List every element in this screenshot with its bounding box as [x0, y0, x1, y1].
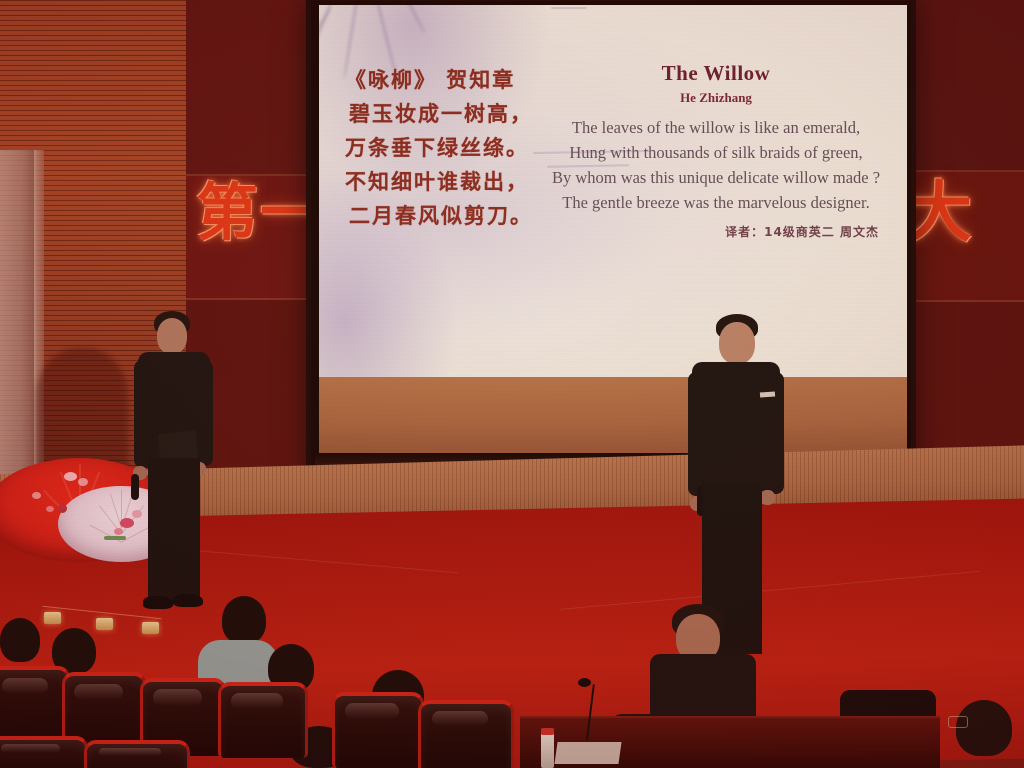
- score-sheet: [554, 742, 621, 764]
- audience-seat: [332, 692, 424, 768]
- screen-lower-band: [319, 377, 907, 453]
- chinese-poem-line: 碧玉妆成一树高，: [345, 97, 533, 131]
- stage-photograph: 第一届 大 《咏柳》 贺知章 碧玉妆成一树高， 万条垂下绿丝绦。 不知细叶谁裁出…: [0, 0, 1024, 768]
- translator-credit: 译者：14级商英二 周文杰: [535, 223, 897, 240]
- chinese-poem-line: 《咏柳》 贺知章: [345, 63, 533, 97]
- audience-head: [222, 596, 266, 644]
- seat-number-tag: [96, 618, 113, 630]
- backdrop-panel: [186, 0, 316, 176]
- english-poem-line: By whom was this unique delicate willow …: [535, 165, 897, 190]
- audience-seat: [84, 740, 190, 768]
- handheld-microphone: [131, 474, 139, 500]
- audience-seat: [0, 736, 88, 768]
- audience-head: [0, 618, 40, 662]
- english-poem-line: The leaves of the willow is like an emer…: [535, 115, 897, 140]
- projection-screen-surface: 《咏柳》 贺知章 碧玉妆成一树高， 万条垂下绿丝绦。 不知细叶谁裁出， 二月春风…: [319, 5, 907, 377]
- banner-text-right: 大: [906, 180, 974, 246]
- english-translation-block: The Willow He Zhizhang The leaves of the…: [535, 61, 897, 240]
- audience-seat: [0, 666, 70, 746]
- water-bottle: [541, 732, 554, 768]
- english-poem-line: Hung with thousands of silk braids of gr…: [535, 140, 897, 165]
- audience-seat: [418, 700, 514, 768]
- seat-number-tag: [44, 612, 61, 624]
- wall-pillar: [0, 150, 36, 510]
- backdrop-panel: [900, 0, 1024, 172]
- slide-author: He Zhizhang: [535, 90, 897, 106]
- parasol-hub: [58, 504, 67, 513]
- slide-title: The Willow: [535, 61, 897, 86]
- panel-seam: [900, 300, 1024, 302]
- chinese-poem-line: 不知细叶谁裁出，: [345, 165, 533, 199]
- chinese-poem-line: 二月春风似剪刀。: [345, 199, 533, 233]
- chinese-poem-line: 万条垂下绿丝绦。: [345, 131, 533, 165]
- chinese-poem-block: 《咏柳》 贺知章 碧玉妆成一树高， 万条垂下绿丝绦。 不知细叶谁裁出， 二月春风…: [345, 63, 533, 233]
- audience-seat: [218, 682, 308, 758]
- projection-screen-frame: 《咏柳》 贺知章 碧玉妆成一树高， 万条垂下绿丝绦。 不知细叶谁裁出， 二月春风…: [306, 0, 916, 474]
- english-poem-line: The gentle breeze was the marvelous desi…: [535, 190, 897, 215]
- pocket-square: [760, 391, 775, 397]
- seat-number-tag: [142, 622, 159, 634]
- eyeglasses-icon: [948, 716, 968, 728]
- water-bottle-cap: [541, 728, 554, 735]
- slide-faint-mark: [551, 7, 587, 9]
- judge-neighbor-head: [956, 700, 1012, 756]
- desk-microphone-head: [578, 678, 591, 687]
- panel-seam: [186, 298, 316, 300]
- panel-seam: [900, 170, 1024, 172]
